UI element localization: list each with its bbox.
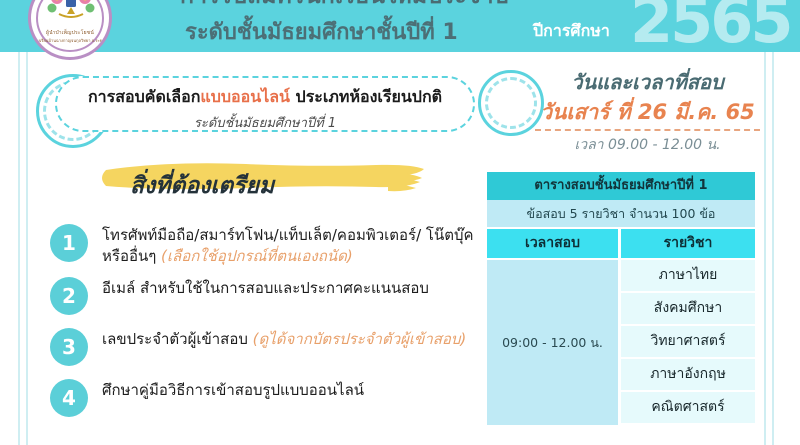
table-row: คณิตศาสตร์ [621,392,755,423]
exam-title-primary: การสอบคัดเลือกแบบออนไลน์ ประเภทห้องเรียน… [57,85,473,110]
right-rule-outer [772,52,774,445]
seal-motto: ผู้นำบำเพ็ญประโยชน์ [31,29,109,37]
list-item-text: โทรศัพท์มือถือ/สมาร์ทโฟน/แท็บเล็ต/คอมพิว… [102,222,476,268]
list-item-text: เลขประจำตัวผู้เข้าสอบ (ดูได้จากบัตรประจำ… [102,326,476,350]
timetable-title: ตารางสอบชั้นมัธยมศึกษาปีที่ 1 [487,172,755,200]
list-item-number: 2 [50,277,88,315]
poster-canvas: การรับสมัครนักเรียนใหม่ประจำปี ระดับชั้น… [0,0,800,445]
list-item-text: อีเมล์ สำหรับใช้ในการสอบและประกาศคะแนนสอ… [102,275,476,299]
left-rule-outer [18,52,20,445]
list-item-main: ศึกษาคู่มือวิธีการเข้าสอบรูปแบบออนไลน์ [102,381,364,399]
list-item-number: 4 [50,379,88,417]
exam-title-highlight: แบบออนไลน์ [200,87,290,106]
seal-school-name: โรงเรียนบ้านฉางกาญจนกุลวิทยา จ.ระยอง [31,37,109,44]
prepare-heading-group: สิ่งที่ต้องเตรียม [100,158,430,208]
list-item-note: (เลือกใช้อุปกรณ์ที่ตนเองถนัด) [161,247,353,265]
prepare-heading-label: สิ่งที่ต้องเตรียม [130,168,274,204]
academic-year-number: 2565 [630,0,791,57]
exam-title-part-a: การสอบคัดเลือก [88,87,200,106]
list-item-number: 1 [50,224,88,262]
list-item: 1 โทรศัพท์มือถือ/สมาร์ทโฟน/แท็บเล็ต/คอมพ… [46,222,476,268]
exam-date-divider [535,129,760,131]
table-row: ภาษาไทย [621,260,755,291]
exam-title-part-b: ประเภทห้องเรียนปกติ [290,87,442,106]
table-row: ภาษาอังกฤษ [621,359,755,390]
exam-timetable: ตารางสอบชั้นมัธยมศึกษาปีที่ 1 ข้อสอบ 5 ร… [487,172,755,425]
timetable-subtitle: ข้อสอบ 5 รายวิชา จำนวน 100 ข้อ [487,200,755,227]
timetable-col-subject: รายวิชา [621,229,755,258]
list-item-text: ศึกษาคู่มือวิธีการเข้าสอบรูปแบบออนไลน์ [102,377,476,401]
left-rule-inner [26,52,28,445]
timetable-time-cell: 09:00 - 12.00 น. [487,260,618,425]
header-title-cut: การรับสมัครนักเรียนใหม่ประจำปี [180,0,580,14]
header-band: การรับสมัครนักเรียนใหม่ประจำปี ระดับชั้น… [0,0,800,52]
timetable-header-row: เวลาสอบ รายวิชา [487,229,755,258]
list-item-note: (ดูได้จากบัตรประจำตัวผู้เข้าสอบ) [253,330,467,348]
timetable-col-time: เวลาสอบ [487,229,618,258]
exam-date-value: วันเสาร์ ที่ 26 มี.ค. 65 [530,96,765,129]
timetable-body: 09:00 - 12.00 น. ภาษาไทย สังคมศึกษา วิทย… [487,260,755,425]
list-item: 3 เลขประจำตัวผู้เข้าสอบ (ดูได้จากบัตรประ… [46,326,476,370]
exam-title-card: การสอบคัดเลือกแบบออนไลน์ ประเภทห้องเรียน… [55,76,475,132]
seal-emblem-icon [45,0,97,27]
list-item-number: 3 [50,328,88,366]
exam-date-heading: วันและเวลาที่สอบ [540,66,755,98]
list-item: 2 อีเมล์ สำหรับใช้ในการสอบและประกาศคะแนน… [46,275,476,319]
header-subtitle: ระดับชั้นมัธยมศึกษาชั้นปีที่ 1 [185,14,458,49]
table-row: วิทยาศาสตร์ [621,326,755,357]
exam-time-value: เวลา 09.00 - 12.00 น. [535,134,760,156]
academic-year-label: ปีการศึกษา [533,19,610,44]
list-item-main: อีเมล์ สำหรับใช้ในการสอบและประกาศคะแนนสอ… [102,279,429,297]
exam-title-secondary: ระดับชั้นมัธยมศึกษาปีที่ 1 [57,112,473,133]
timetable-subject-column: ภาษาไทย สังคมศึกษา วิทยาศาสตร์ ภาษาอังกฤ… [621,260,755,425]
prepare-checklist: 1 โทรศัพท์มือถือ/สมาร์ทโฟน/แท็บเล็ต/คอมพ… [46,222,476,428]
table-row: สังคมศึกษา [621,293,755,324]
list-item-main: เลขประจำตัวผู้เข้าสอบ [102,330,253,348]
list-item: 4 ศึกษาคู่มือวิธีการเข้าสอบรูปแบบออนไลน์ [46,377,476,421]
